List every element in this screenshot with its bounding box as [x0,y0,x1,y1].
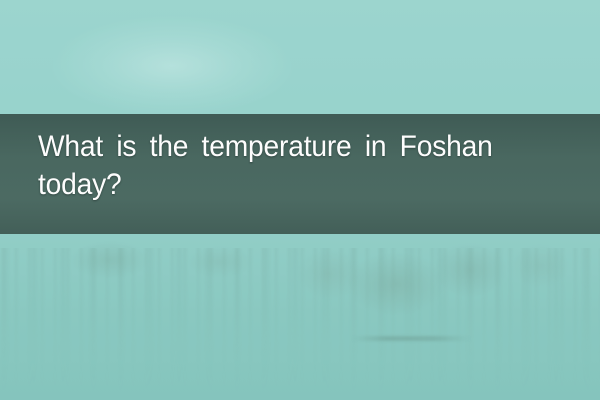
far-shore-streak [352,336,470,341]
caption-question-text: What is the temperature in Foshan today? [38,128,546,204]
water-reflection-streaks [0,248,600,400]
screenshot-stage: What is the temperature in Foshan today? [0,0,600,400]
